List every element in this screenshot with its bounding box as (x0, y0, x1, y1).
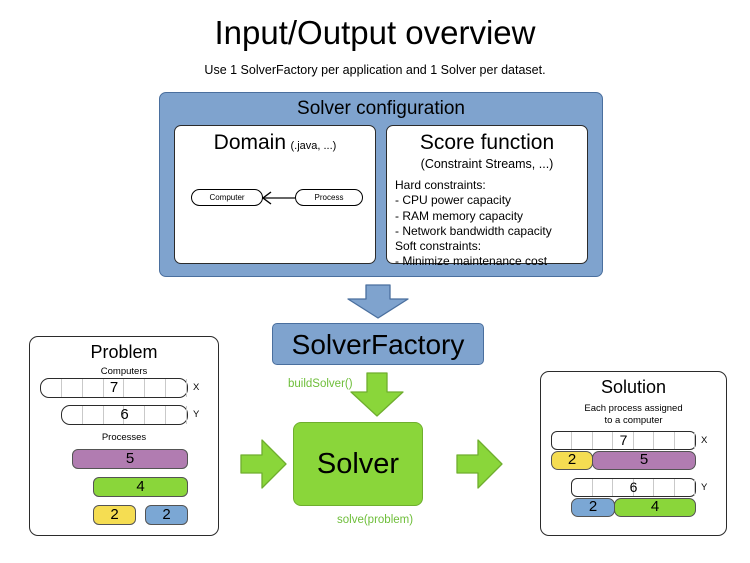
score-function-constraint-list: Hard constraints: - CPU power capacity -… (395, 178, 587, 270)
score-function-subtitle: (Constraint Streams, ...) (387, 156, 587, 172)
problem-panel: Problem Computers 7 X 6 Y Processes 5 (29, 336, 219, 536)
solution-assigned-process-x-1[interactable]: 5 (592, 451, 696, 470)
solve-problem-label: solve(problem) (337, 513, 413, 527)
processes-caption: Processes (30, 432, 218, 444)
diagram-canvas: Input/Output overview Use 1 SolverFactor… (0, 0, 750, 563)
solver-factory-box[interactable]: SolverFactory (272, 323, 484, 365)
domain-uml-diagram: Computer Process (185, 184, 367, 214)
solution-computer-capacity-x: 7 (552, 432, 695, 449)
solution-panel: Solution Each process assigned to a comp… (540, 371, 727, 536)
problem-computer-bar-y[interactable]: 6 (61, 405, 188, 425)
solver-configuration-title: Solver configuration (160, 97, 602, 121)
score-function-heading: Score function (387, 130, 587, 158)
problem-process-4[interactable]: 4 (93, 477, 188, 497)
score-function-title: Score function (420, 131, 554, 154)
constraint-line: - CPU power capacity (395, 193, 587, 208)
problem-process-2-yellow[interactable]: 2 (93, 505, 136, 525)
domain-title-suffix: (.java, ...) (290, 140, 336, 152)
solver-configuration-box: Solver configuration Domain (.java, ...)… (159, 92, 603, 277)
solution-computer-capacity-y: 6 (572, 479, 695, 496)
problem-computer-bar-x[interactable]: 7 (40, 378, 188, 398)
constraint-line: Soft constraints: (395, 239, 587, 254)
solver-box[interactable]: Solver (293, 422, 423, 506)
problem-title: Problem (30, 340, 218, 364)
domain-title: Domain (214, 131, 286, 154)
score-function-card: Score function (Constraint Streams, ...)… (386, 125, 588, 264)
solution-assigned-process-y-0[interactable]: 2 (571, 498, 615, 517)
uml-node-computer[interactable]: Computer (191, 189, 263, 206)
problem-computer-label-x: X (193, 382, 199, 394)
build-solver-arrow-icon (349, 372, 405, 418)
solution-computer-bar-x[interactable]: 7 (551, 431, 696, 450)
solution-caption-line2: to a computer (541, 415, 726, 427)
page-subtitle: Use 1 SolverFactory per application and … (0, 62, 750, 78)
solution-computer-bar-y[interactable]: 6 (571, 478, 696, 497)
problem-process-5[interactable]: 5 (72, 449, 188, 469)
constraint-line: - RAM memory capacity (395, 209, 587, 224)
solution-computer-label-x: X (701, 435, 707, 447)
solution-assigned-process-y-1[interactable]: 4 (614, 498, 696, 517)
constraint-line: - Minimize maintenance cost (395, 254, 587, 269)
solution-title: Solution (541, 375, 726, 399)
constraint-line: Hard constraints: (395, 178, 587, 193)
domain-card: Domain (.java, ...) Computer Process (174, 125, 376, 264)
solution-computer-label-y: Y (701, 482, 707, 494)
build-solver-label: buildSolver() (288, 377, 353, 391)
problem-computer-capacity-y: 6 (62, 406, 187, 424)
solution-assigned-process-x-0[interactable]: 2 (551, 451, 593, 470)
uml-node-process[interactable]: Process (295, 189, 363, 206)
constraint-line: - Network bandwidth capacity (395, 224, 587, 239)
problem-computer-label-y: Y (193, 409, 199, 421)
solver-to-solution-arrow-icon (456, 438, 504, 490)
solution-caption-line1: Each process assigned (541, 403, 726, 415)
problem-to-solver-arrow-icon (240, 438, 288, 490)
problem-computer-capacity-x: 7 (41, 379, 187, 397)
computers-caption: Computers (30, 366, 218, 378)
page-title: Input/Output overview (0, 14, 750, 52)
config-to-factory-arrow-icon (345, 284, 411, 320)
domain-card-heading: Domain (.java, ...) (175, 130, 375, 159)
problem-process-2-blue[interactable]: 2 (145, 505, 188, 525)
